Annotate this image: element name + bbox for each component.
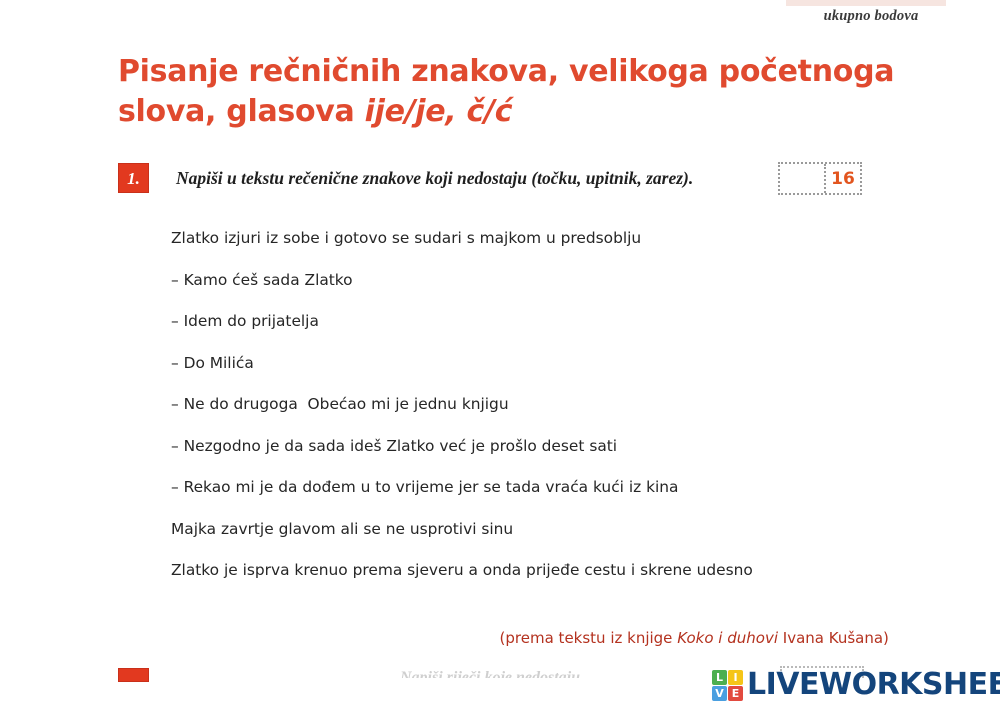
attribution-book-title: Koko i duhovi <box>677 629 778 647</box>
text-line: – Do Milića <box>171 353 931 373</box>
score-box: 16 <box>778 162 862 195</box>
task-instruction: Napiši u tekstu rečenične znakove koji n… <box>176 168 693 189</box>
liveworksheets-logo-icon: L I V E <box>712 670 743 701</box>
page-title-line2-italic: ije/je, č/ć <box>365 94 513 129</box>
next-task-instruction-partial: Napiši riječi koje nedostaju <box>400 669 580 678</box>
text-line: – Ne do drugoga Obećao mi je jednu knjig… <box>171 394 931 414</box>
liveworksheets-wordmark: LIVEWORKSHEETS <box>747 668 1000 702</box>
total-points-label: ukupno bodova <box>756 8 986 25</box>
total-points-box <box>786 0 946 6</box>
text-line: – Idem do prijatelja <box>171 311 931 331</box>
text-line: – Kamo ćeš sada Zlatko <box>171 270 931 290</box>
page-title-line2-plain: slova, glasova <box>118 94 365 129</box>
score-max-points: 16 <box>826 164 860 193</box>
text-line: Zlatko izjuri iz sobe i gotovo se sudari… <box>171 228 931 248</box>
logo-tile-e: E <box>728 686 743 701</box>
exercise-header: 1. Napiši u tekstu rečenične znakove koj… <box>118 163 878 197</box>
text-line: – Rekao mi je da dođem u to vrijeme jer … <box>171 477 931 497</box>
text-line: – Nezgodno je da sada ideš Zlatko već je… <box>171 436 931 456</box>
logo-tile-i: I <box>728 670 743 685</box>
page-title-line1: Pisanje rečničnih znakova, velikoga poče… <box>118 54 894 89</box>
liveworksheets-watermark: L I V E LIVEWORKSHEETS <box>712 668 1000 702</box>
source-attribution: (prema tekstu iz knjige Koko i duhovi Iv… <box>490 611 889 647</box>
page-title: Pisanje rečničnih znakova, velikoga poče… <box>118 52 918 132</box>
text-line: Zlatko je isprva krenuo prema sjeveru a … <box>171 560 931 580</box>
task-number-badge: 1. <box>118 163 149 193</box>
next-task-number-badge <box>118 668 149 682</box>
text-line: Majka zavrtje glavom ali se ne usprotivi… <box>171 519 931 539</box>
logo-tile-v: V <box>712 686 727 701</box>
attribution-suffix: Ivana Kušana) <box>778 629 889 647</box>
score-input-cell[interactable] <box>780 164 826 193</box>
attribution-prefix: (prema tekstu iz knjige <box>500 629 678 647</box>
exercise-text-block: Zlatko izjuri iz sobe i gotovo se sudari… <box>171 228 931 602</box>
logo-tile-l: L <box>712 670 727 685</box>
total-points-area: ukupno bodova <box>756 0 986 30</box>
